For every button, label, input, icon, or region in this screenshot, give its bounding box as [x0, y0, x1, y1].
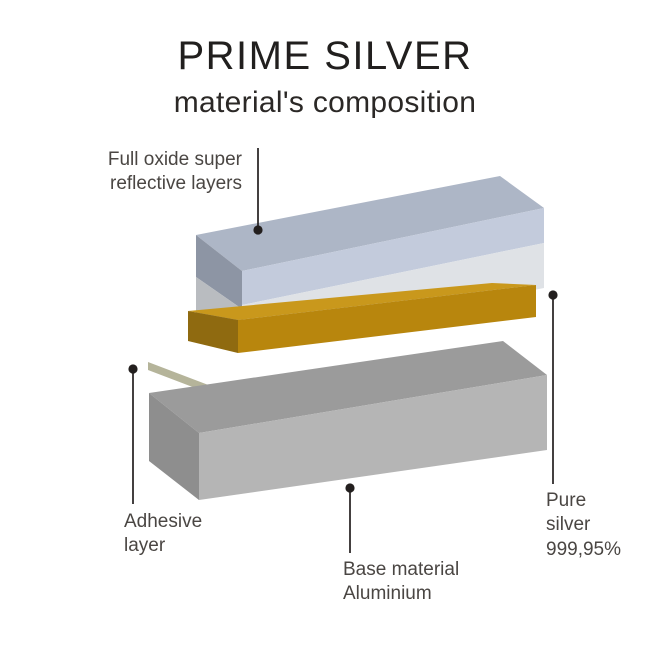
callout-label-pure-silver: Pure silver 999,95% — [546, 489, 646, 562]
diagram-canvas: PRIME SILVER material's composition Full… — [0, 0, 650, 650]
callout-label-full-oxide-super-reflective-layers: Full oxide super reflective layers — [56, 148, 242, 197]
base-aluminium-block — [149, 341, 547, 500]
callout-label-base-material-aluminium: Base material Aluminium — [343, 558, 543, 607]
callout-label-adhesive-layer: Adhesive layer — [124, 510, 284, 559]
leader-dot-oxide — [253, 225, 262, 234]
